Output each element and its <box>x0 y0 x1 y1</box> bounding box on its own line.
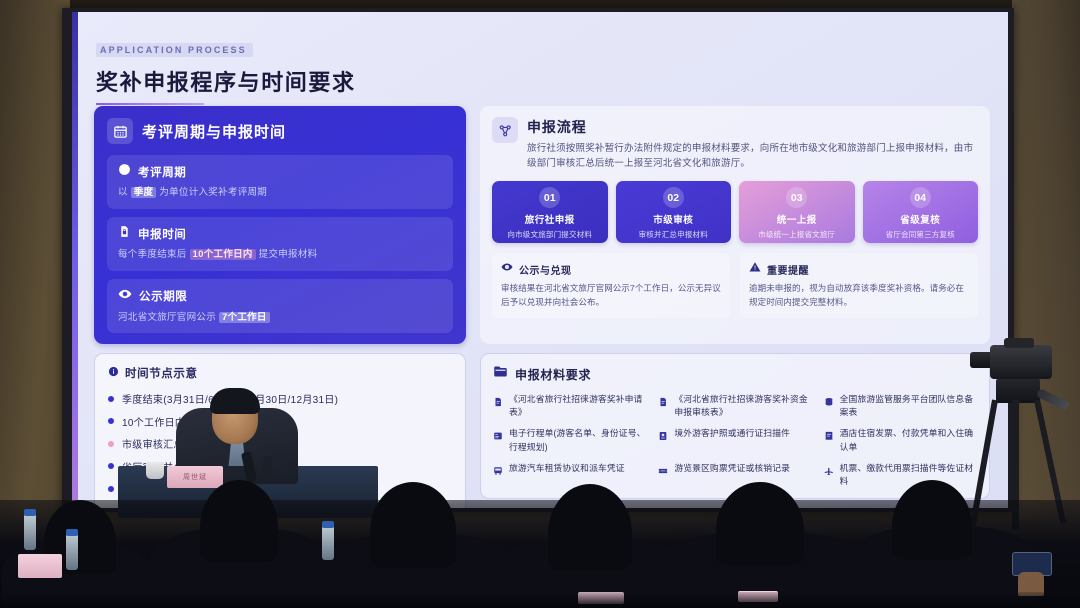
cycle-item-2: 公示期限 河北省文旅厅官网公示 7个工作日 <box>107 279 453 334</box>
timeline-title: 时间节点示意 <box>125 365 198 381</box>
material-item: 《河北省旅行社招徕游客奖补申请表》 <box>493 393 646 419</box>
water-bottle <box>66 534 78 570</box>
flow-title: 申报流程 <box>527 117 978 137</box>
water-bottle <box>322 526 334 560</box>
cycle-item-0: 考评周期 以 季度 为单位计入奖补考评周期 <box>107 155 453 209</box>
camera-top-handle <box>1004 338 1034 348</box>
bullet-dot-icon <box>108 463 114 469</box>
step-description: 省厅会同第三方复核 <box>886 229 955 240</box>
foreground-shadow <box>0 592 1080 608</box>
note-warning: 重要提醒 逾期未申报的，视为自动放弃该季度奖补资格。请务必在规定时间内提交完整材… <box>740 253 978 317</box>
conference-room-scene: APPLICATION PROCESS 奖补申报程序与时间要求 <box>0 0 1080 608</box>
water-bottle <box>24 514 36 550</box>
itinerary-icon <box>493 428 503 446</box>
flow-steps: 01 旅行社申报 向市级文旅部门提交材料 02 市级审核 审核并汇总申报材料 0… <box>492 181 978 243</box>
flow-step-01: 01 旅行社申报 向市级文旅部门提交材料 <box>492 181 608 243</box>
material-text: 酒店住宿发票、付款凭单和入住确认单 <box>840 427 977 453</box>
cycle-item-0-text: 以 季度 为单位计入奖补考评周期 <box>118 186 442 200</box>
video-camera-icon <box>990 345 1052 379</box>
audience-silhouettes <box>0 500 1080 608</box>
step-number: 03 <box>786 187 807 208</box>
timeline-header: 时间节点示意 <box>108 364 452 382</box>
material-text: 旅游汽车租赁协议和派车凭证 <box>509 462 625 475</box>
text-before: 河北省文旅厅官网公示 <box>118 312 219 323</box>
flow-step-03: 03 统一上报 市级统一上报省文旅厅 <box>739 181 855 243</box>
slide-header: APPLICATION PROCESS 奖补申报程序与时间要求 <box>96 40 356 105</box>
eye-icon <box>118 287 132 306</box>
flow-card: 申报流程 旅行社须按照奖补暂行办法附件规定的申报材料要求，向所在地市级文化和旅游… <box>480 106 990 344</box>
highlight-seven-days: 7个工作日 <box>219 312 270 323</box>
database-icon <box>824 394 834 412</box>
cycle-item-1-text: 每个季度结束后 10个工作日内 提交申报材料 <box>118 248 442 262</box>
cycle-item-2-header: 公示期限 <box>118 287 442 306</box>
title-underline <box>96 103 204 105</box>
speaker-nameplate: 周世斌 <box>167 466 223 488</box>
folder-icon <box>493 364 508 384</box>
bullet-dot-icon <box>108 441 114 447</box>
material-item: 全国旅游监管服务平台团队信息备案表 <box>824 393 977 419</box>
text-before: 以 <box>118 187 131 198</box>
material-item: 机票、缴款代用票扫描件等佐证材料 <box>824 462 977 488</box>
flow-step-02: 02 市级审核 审核并汇总申报材料 <box>616 181 732 243</box>
bottle-cap <box>24 509 36 516</box>
highlight-quarter: 季度 <box>131 187 157 198</box>
bullet-dot-icon <box>108 486 114 492</box>
material-item: 游览景区购票凭证或核销记录 <box>658 462 811 488</box>
highlight-ten-days: 10个工作日内 <box>190 249 256 260</box>
step-name: 旅行社申报 <box>525 212 575 226</box>
bullet-dot-icon <box>108 396 114 402</box>
cycle-item-0-title: 考评周期 <box>138 164 186 180</box>
clock-icon <box>118 163 131 181</box>
materials-card: 申报材料要求 《河北省旅行社招徕游客奖补申请表》 <box>480 353 990 499</box>
material-text: 机票、缴款代用票扫描件等佐证材料 <box>840 462 977 488</box>
file-lock-icon <box>118 225 131 243</box>
material-text: 《河北省旅行社招徕游客奖补申请表》 <box>509 393 646 419</box>
cycle-card-header: 考评周期与申报时间 <box>107 118 453 144</box>
note-publicity: 公示与兑现 审核结果在河北省文旅厅官网公示7个工作日，公示无异议后予以兑现并向社… <box>492 253 730 317</box>
material-text: 游览景区购票凭证或核销记录 <box>674 462 790 475</box>
step-name: 省级复核 <box>900 212 940 226</box>
pink-document-box <box>18 554 62 578</box>
eye-icon <box>501 260 513 278</box>
step-name: 市级审核 <box>653 212 693 226</box>
wall-left <box>0 0 70 520</box>
bus-icon <box>493 463 503 481</box>
material-item: 旅游汽车租赁协议和派车凭证 <box>493 462 646 488</box>
info-icon <box>108 364 119 382</box>
cycle-item-2-text: 河北省文旅厅官网公示 7个工作日 <box>118 311 442 325</box>
materials-title: 申报材料要求 <box>515 366 591 383</box>
materials-header: 申报材料要求 <box>493 364 977 384</box>
material-item: 电子行程单(游客名单、身份证号、行程规划) <box>493 427 646 453</box>
step-description: 向市级文旅部门提交材料 <box>507 229 592 240</box>
bottle-cap <box>66 529 78 536</box>
slide-accent-bar <box>72 12 78 508</box>
flow-description: 旅行社须按照奖补暂行办法附件规定的申报材料要求，向所在地市级文化和旅游部门上报申… <box>527 142 978 171</box>
cycle-item-1-title: 申报时间 <box>138 226 186 242</box>
right-column: 申报流程 旅行社须按照奖补暂行办法附件规定的申报材料要求，向所在地市级文化和旅游… <box>480 106 990 496</box>
note-title: 重要提醒 <box>767 262 809 277</box>
step-description: 市级统一上报省文旅厅 <box>758 229 835 240</box>
receipt-icon <box>824 428 834 446</box>
flow-header: 申报流程 旅行社须按照奖补暂行办法附件规定的申报材料要求，向所在地市级文化和旅游… <box>492 117 978 171</box>
document-icon <box>493 394 503 412</box>
material-item: 酒店住宿发票、付款凭单和入住确认单 <box>824 427 977 453</box>
material-item: 境外游客护照或通行证扫描件 <box>658 427 811 453</box>
step-number: 01 <box>539 187 560 208</box>
material-item: 《河北省旅行社招徕游客奖补资金申报审核表》 <box>658 393 811 419</box>
material-text: 全国旅游监管服务平台团队信息备案表 <box>840 393 977 419</box>
cycle-item-0-header: 考评周期 <box>118 163 442 181</box>
text-after: 为单位计入奖补考评周期 <box>156 187 267 198</box>
note-title: 公示与兑现 <box>519 262 572 277</box>
note-warning-header: 重要提醒 <box>749 260 969 278</box>
step-name: 统一上报 <box>777 212 817 226</box>
bottle-cap <box>322 521 334 528</box>
text-before: 每个季度结束后 <box>118 249 190 260</box>
water-cup <box>146 462 164 479</box>
note-text: 审核结果在河北省文旅厅官网公示7个工作日，公示无异议后予以兑现并向社会公布。 <box>501 282 721 309</box>
cycle-item-1: 申报时间 每个季度结束后 10个工作日内 提交申报材料 <box>107 217 453 271</box>
page-title: 奖补申报程序与时间要求 <box>96 65 356 97</box>
bullet-dot-icon <box>108 418 114 424</box>
material-text: 电子行程单(游客名单、身份证号、行程规划) <box>509 427 646 453</box>
warning-triangle-icon <box>749 260 761 278</box>
flow-notes: 公示与兑现 审核结果在河北省文旅厅官网公示7个工作日，公示无异议后予以兑现并向社… <box>492 253 978 317</box>
calendar-icon <box>107 118 133 144</box>
document-icon <box>658 394 668 412</box>
material-text: 《河北省旅行社招徕游客奖补资金申报审核表》 <box>674 393 811 419</box>
cycle-item-1-header: 申报时间 <box>118 225 442 243</box>
passport-icon <box>658 428 668 446</box>
step-number: 04 <box>910 187 931 208</box>
ticket-icon <box>658 463 668 481</box>
cycle-item-2-title: 公示期限 <box>139 288 187 304</box>
timeline-item: 季度结束(3月31日/6月30日/9月30日/12月31日) <box>108 391 452 406</box>
slide-eyebrow: APPLICATION PROCESS <box>96 43 253 57</box>
text-after: 提交申报材料 <box>256 249 318 260</box>
note-text: 逾期未申报的，视为自动放弃该季度奖补资格。请务必在规定时间内提交完整材料。 <box>749 282 969 309</box>
speaker-name: 周世斌 <box>183 472 207 482</box>
material-text: 境外游客护照或通行证扫描件 <box>674 427 790 440</box>
cycle-card-title: 考评周期与申报时间 <box>142 121 286 142</box>
workflow-icon <box>492 117 518 143</box>
materials-grid: 《河北省旅行社招徕游客奖补申请表》 《河北省旅行社招徕游客奖补资金申报审核表》 <box>493 393 977 488</box>
step-description: 审核并汇总申报材料 <box>639 229 708 240</box>
cycle-and-time-card: 考评周期与申报时间 考评周期 以 季度 为单位计入奖补考评周期 <box>94 106 466 344</box>
speaker-hair <box>210 388 260 414</box>
flow-step-04: 04 省级复核 省厅会同第三方复核 <box>863 181 979 243</box>
step-number: 02 <box>663 187 684 208</box>
note-publicity-header: 公示与兑现 <box>501 260 721 278</box>
airplane-icon <box>824 463 834 481</box>
